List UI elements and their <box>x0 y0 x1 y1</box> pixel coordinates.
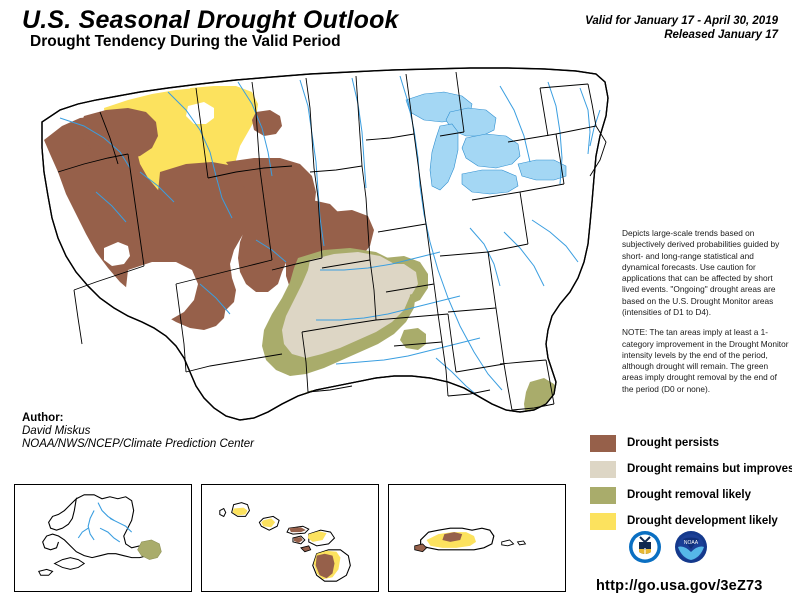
legend-label-persists: Drought persists <box>627 437 719 449</box>
alaska-inset <box>14 484 192 592</box>
legend-swatch-improves <box>590 461 616 478</box>
page-subtitle: Drought Tendency During the Valid Period <box>30 33 341 51</box>
valid-period-text: Valid for January 17 - April 30, 2019 <box>585 15 778 27</box>
released-date-text: Released January 17 <box>664 29 778 41</box>
agency-logos: NOAA <box>628 530 708 569</box>
author-label: Author: <box>22 412 254 424</box>
noaa-seal-logo: NOAA <box>674 530 708 569</box>
legend-item-improves: Drought remains but improves <box>590 458 790 480</box>
legend-item-removal: Drought removal likely <box>590 484 790 506</box>
notes-paragraph-2: NOTE: The tan areas imply at least a 1-c… <box>622 327 790 395</box>
legend-item-persists: Drought persists <box>590 432 790 454</box>
page-title: U.S. Seasonal Drought Outlook <box>22 6 399 35</box>
svg-text:NOAA: NOAA <box>684 540 699 546</box>
author-name: David Miskus <box>22 425 254 437</box>
author-block: Author: David Miskus NOAA/NWS/NCEP/Clima… <box>22 412 254 450</box>
legend: Drought persists Drought remains but imp… <box>590 432 790 536</box>
legend-label-improves: Drought remains but improves <box>627 463 792 475</box>
drought-outlook-page: U.S. Seasonal Drought Outlook Drought Te… <box>0 0 792 612</box>
legend-label-removal: Drought removal likely <box>627 489 751 501</box>
legend-swatch-persists <box>590 435 616 452</box>
author-organization: NOAA/NWS/NCEP/Climate Prediction Center <box>22 438 254 450</box>
explanatory-notes: Depicts large-scale trends based on subj… <box>622 228 790 395</box>
legend-label-development: Drought development likely <box>627 515 778 527</box>
puerto-rico-inset <box>388 484 566 592</box>
notes-paragraph-1: Depicts large-scale trends based on subj… <box>622 228 790 318</box>
legend-swatch-removal <box>590 487 616 504</box>
hawaii-inset <box>201 484 379 592</box>
url-text: http://go.usa.gov/3eZ73 <box>596 578 763 594</box>
legend-swatch-development <box>590 513 616 530</box>
legend-item-development: Drought development likely <box>590 510 790 532</box>
nws-seal-logo <box>628 530 662 569</box>
